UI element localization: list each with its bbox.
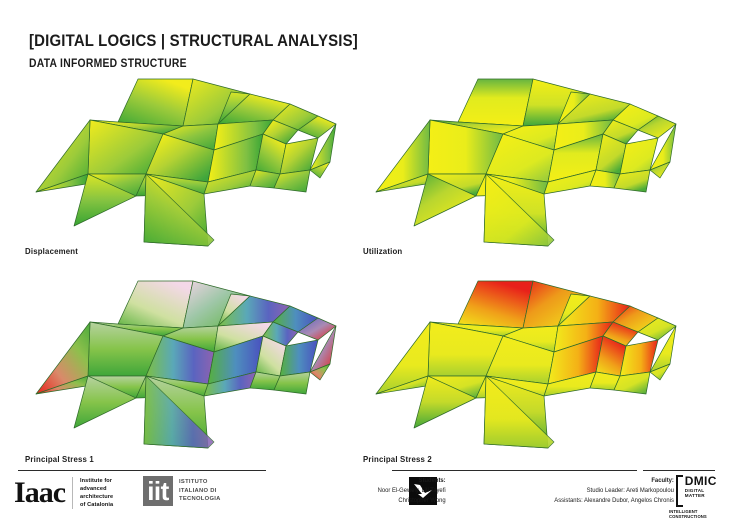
iaac-tagline: Institute for advanced architecture of C… — [72, 477, 113, 509]
panel-label-principal-stress-2: Principal Stress 2 — [363, 454, 432, 464]
iit-wordmark: iit — [143, 476, 173, 506]
iaac-mark-aac: aac — [25, 476, 65, 509]
panel-label-utilization: Utilization — [363, 246, 402, 256]
iaac-tagline-line1: Institute for — [80, 477, 113, 485]
page-subtitle: DATA INFORMED STRUCTURE — [29, 58, 187, 70]
analysis-panel-principal-stress-1[interactable] — [18, 276, 348, 451]
page-title: [DIGITAL LOGICS | STRUCTURAL ANALYSIS] — [29, 31, 358, 51]
dmic-wordmark: DMIC — [685, 475, 724, 487]
analysis-panel-principal-stress-2[interactable] — [358, 276, 688, 451]
dmic-subtitle-2: INTELLIGENT CONSTRUCTIONS — [669, 509, 724, 519]
credits-faculty-line2: Assistants: Alexandre Dubor, Angelos Chr… — [554, 496, 674, 506]
credits-students-heading: Students: — [378, 476, 446, 486]
dmic-subtitle-1: DIGITAL MATTER — [685, 489, 724, 498]
credits-students-line1: Noor El-Gewely, Lili Tayefi — [378, 486, 446, 496]
iit-tagline-line3: TECNOLOGIA — [179, 495, 221, 504]
panel-label-principal-stress-1: Principal Stress 1 — [25, 454, 94, 464]
iit-tagline-line2: ITALIANO DI — [179, 487, 221, 496]
footer-divider-center — [392, 470, 637, 471]
presentation-board: [DIGITAL LOGICS | STRUCTURAL ANALYSIS] D… — [0, 0, 730, 518]
panel-label-displacement: Displacement — [25, 246, 78, 256]
iit-tagline: ISTITUTO ITALIANO DI TECNOLOGIA — [179, 478, 221, 504]
iaac-mark-i: I — [14, 476, 25, 509]
credits-faculty-heading: Faculty: — [554, 476, 674, 486]
iaac-tagline-line4: of Catalonia — [80, 501, 113, 509]
iaac-tagline-line3: architecture — [80, 493, 113, 501]
analysis-panel-utilization[interactable] — [358, 74, 688, 249]
analysis-panel-displacement[interactable] — [18, 74, 348, 249]
iaac-logo: Iaac Institute for advanced architecture… — [14, 477, 113, 509]
iaac-tagline-line2: advanced — [80, 485, 113, 493]
credits-faculty: Faculty: Studio Leader: Areti Markopoulo… — [554, 476, 674, 507]
footer-divider-left — [18, 470, 266, 471]
credits-faculty-line1: Studio Leader: Areti Markopoulou — [554, 486, 674, 496]
credits-students-line2: Christopher Wong — [378, 496, 446, 506]
iaac-wordmark: Iaac — [14, 478, 65, 508]
dmic-logo: DMIC DIGITAL MATTER INTELLIGENT CONSTRUC… — [676, 475, 724, 519]
iit-tagline-line1: ISTITUTO — [179, 478, 221, 487]
credits-students: Students: Noor El-Gewely, Lili Tayefi Ch… — [378, 476, 446, 507]
footer-divider-right — [643, 470, 715, 471]
footer: Iaac Institute for advanced architecture… — [0, 472, 730, 518]
dmic-bracket-icon — [676, 475, 683, 507]
iit-logo: iit ISTITUTO ITALIANO DI TECNOLOGIA — [143, 476, 221, 506]
